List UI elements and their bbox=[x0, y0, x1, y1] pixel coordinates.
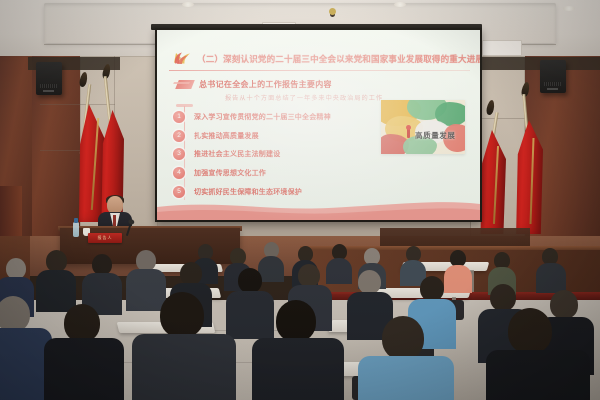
water-bottle bbox=[73, 222, 79, 237]
ceiling-vent bbox=[482, 40, 522, 56]
conference-hall-photo: （二）深刻认识党的二十届三中全会以来党和国家事业发展取得的重大进展 总书记在全会… bbox=[0, 0, 600, 400]
ceiling-downlight bbox=[563, 6, 575, 11]
panel-seam bbox=[40, 104, 115, 105]
ceiling-downlight bbox=[394, 2, 406, 7]
screen-surface: （二）深刻认识党的二十届三中全会以来党和国家事业发展取得的重大进展 总书记在全会… bbox=[157, 30, 480, 220]
projector-glow bbox=[157, 30, 480, 220]
wall-speaker-right bbox=[540, 60, 566, 93]
nameplate-text: 报告人 bbox=[88, 233, 122, 243]
wall-dark-band bbox=[478, 57, 600, 70]
ceiling-downlight bbox=[182, 2, 194, 7]
speaker-badge bbox=[547, 88, 558, 90]
nameplate: 报告人 bbox=[88, 233, 122, 243]
projection-screen: （二）深刻认识党的二十届三中全会以来党和国家事业发展取得的重大进展 总书记在全会… bbox=[155, 28, 482, 222]
smoke-detector-icon bbox=[329, 8, 336, 15]
presentation-slide: （二）深刻认识党的二十届三中全会以来党和国家事业发展取得的重大进展 总书记在全会… bbox=[157, 30, 480, 220]
wall-speaker-left bbox=[36, 62, 62, 95]
speaker-badge bbox=[43, 90, 54, 92]
